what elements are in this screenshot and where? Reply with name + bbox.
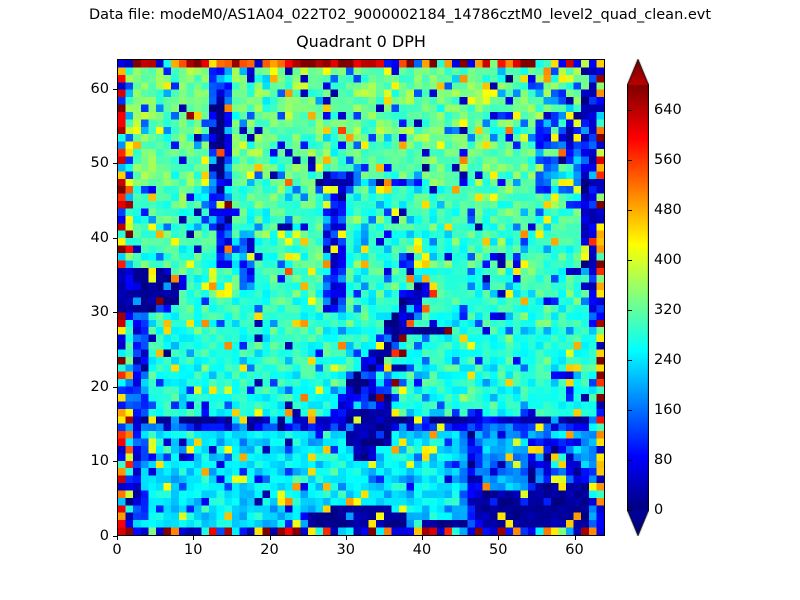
colorbar-tick-mark [627,210,632,211]
y-tick-label: 10 [91,453,109,469]
y-tick-label: 40 [91,230,109,246]
colorbar-tick-mark [627,310,632,311]
colorbar-tick-mark [627,460,632,461]
y-tick-mark [113,461,117,462]
y-tick-label: 30 [91,304,109,320]
x-tick-label: 10 [184,542,202,558]
colorbar-tick-label: 640 [654,102,682,118]
x-tick-mark [422,536,423,540]
x-tick-mark [193,536,194,540]
x-tick-label: 30 [337,542,355,558]
colorbar-tick-mark [627,160,632,161]
y-tick-mark [113,89,117,90]
colorbar-tick-mark [627,360,632,361]
x-tick-mark [346,536,347,540]
colorbar-tick-label: 160 [654,402,682,418]
figure-suptitle: Data file: modeM0/AS1A04_022T02_90000021… [0,7,800,23]
y-tick-mark [113,312,117,313]
y-tick-mark [113,536,117,537]
figure-canvas: Data file: modeM0/AS1A04_022T02_90000021… [0,0,800,600]
x-tick-mark [117,536,118,540]
x-tick-label: 60 [565,542,583,558]
colorbar-tick-mark [627,260,632,261]
colorbar[interactable] [627,59,649,536]
colorbar-tick-mark [627,510,632,511]
heatmap-axes[interactable] [117,59,605,536]
colorbar-tick-label: 80 [654,452,672,468]
colorbar-gradient [627,59,649,536]
x-tick-mark [270,536,271,540]
x-tick-label: 0 [112,542,121,558]
colorbar-tick-label: 0 [654,502,663,518]
y-tick-label: 0 [100,528,109,544]
colorbar-tick-mark [627,110,632,111]
page-title: Quadrant 0 DPH [117,32,605,51]
x-tick-label: 40 [413,542,431,558]
colorbar-tick-mark [627,410,632,411]
heatmap-image[interactable] [118,60,604,535]
x-tick-label: 50 [489,542,507,558]
colorbar-tick-label: 560 [654,152,682,168]
colorbar-tick-label: 240 [654,352,682,368]
x-tick-mark [575,536,576,540]
y-tick-mark [113,238,117,239]
x-tick-label: 20 [260,542,278,558]
colorbar-tick-label: 480 [654,202,682,218]
colorbar-tick-label: 320 [654,302,682,318]
y-tick-label: 50 [91,155,109,171]
colorbar-tick-label: 400 [654,252,682,268]
x-tick-mark [498,536,499,540]
y-tick-mark [113,163,117,164]
y-tick-mark [113,387,117,388]
y-tick-label: 20 [91,379,109,395]
y-tick-label: 60 [91,81,109,97]
